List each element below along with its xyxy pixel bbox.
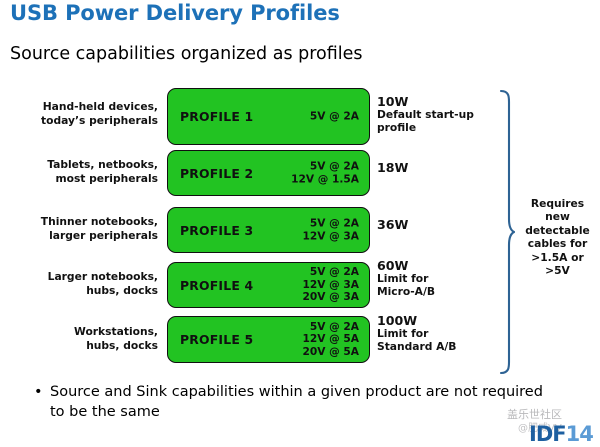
page-subtitle: Source capabilities organized as profile… <box>10 44 363 64</box>
profile-use-case: Tablets, netbooks, most peripherals <box>0 158 158 185</box>
voltage-line-3: 20V @ 5A <box>303 346 359 358</box>
profile-name: PROFILE 1 <box>168 109 253 124</box>
profile-name: PROFILE 3 <box>168 223 253 238</box>
power-watts: 36W <box>377 218 495 231</box>
use-case-line-1: Tablets, netbooks, <box>47 158 158 171</box>
profile-name: PROFILE 5 <box>168 332 253 347</box>
use-case-line-2: most peripherals <box>55 172 158 185</box>
power-watts: 18W <box>377 161 495 174</box>
power-watts: 10W <box>377 95 495 108</box>
brace-note: Requires new detectable cables for >1.5A… <box>515 197 600 277</box>
voltage-line-2: 12V @ 1.5A <box>291 173 359 185</box>
profile-power: 100W Limit for Standard A/B <box>377 314 495 354</box>
idf-logo-year: 14 <box>566 422 593 446</box>
use-case-line-1: Workstations, <box>74 325 158 338</box>
bullet-item: • Source and Sink capabilities within a … <box>34 382 554 422</box>
voltage-line-1: 5V @ 2A <box>310 110 359 122</box>
profile-power: 18W <box>377 161 495 174</box>
profile-voltages: 5V @ 2A <box>310 110 359 123</box>
profile-voltages: 5V @ 2A 12V @ 1.5A <box>291 160 359 185</box>
power-note-line-2: Micro-A/B <box>377 285 435 298</box>
profile-use-case: Larger notebooks, hubs, docks <box>0 270 158 297</box>
profile-voltages: 5V @ 2A 12V @ 3A 20V @ 3A <box>303 266 359 304</box>
profile-name: PROFILE 4 <box>168 278 253 293</box>
power-note-line-2: profile <box>377 121 416 134</box>
voltage-line-1: 5V @ 2A <box>310 160 359 172</box>
voltage-line-1: 5V @ 2A <box>310 321 359 333</box>
profile-name: PROFILE 2 <box>168 166 253 181</box>
profile-box[interactable]: PROFILE 4 5V @ 2A 12V @ 3A 20V @ 3A <box>167 262 370 308</box>
profile-voltages: 5V @ 2A 12V @ 5A 20V @ 5A <box>303 321 359 359</box>
power-watts: 60W <box>377 259 495 272</box>
power-watts: 100W <box>377 314 495 327</box>
power-note-line-1: Default start-up <box>377 108 474 121</box>
voltage-line-2: 12V @ 3A <box>303 279 359 291</box>
profile-use-case: Thinner notebooks, larger peripherals <box>0 215 158 242</box>
brace-note-line-4: cables for <box>528 237 587 250</box>
power-note-line-1: Limit for <box>377 272 428 285</box>
idf-logo: IDF14 <box>529 424 593 445</box>
profile-box[interactable]: PROFILE 1 5V @ 2A <box>167 88 370 145</box>
profile-box[interactable]: PROFILE 2 5V @ 2A 12V @ 1.5A <box>167 150 370 196</box>
curly-brace-icon <box>489 88 515 376</box>
voltage-line-1: 5V @ 2A <box>310 266 359 278</box>
profile-power: 60W Limit for Micro-A/B <box>377 259 495 299</box>
profile-power: 10W Default start-up profile <box>377 95 495 135</box>
brace-note-line-3: detectable <box>525 224 589 237</box>
brace-note-line-1: Requires <box>531 197 584 210</box>
voltage-line-2: 12V @ 5A <box>303 333 359 345</box>
profile-power: 36W <box>377 218 495 231</box>
bullet-marker: • <box>34 382 43 402</box>
voltage-line-2: 12V @ 3A <box>303 230 359 242</box>
brace-note-line-6: >5V <box>545 264 570 277</box>
profile-box[interactable]: PROFILE 5 5V @ 2A 12V @ 5A 20V @ 5A <box>167 316 370 363</box>
profile-use-case: Workstations, hubs, docks <box>0 325 158 352</box>
slide-canvas: USB Power Delivery Profiles Source capab… <box>0 0 600 447</box>
use-case-line-1: Hand-held devices, <box>43 100 158 113</box>
idf-logo-letters: IDF <box>529 422 566 446</box>
bullet-text: Source and Sink capabilities within a gi… <box>50 382 554 422</box>
page-title: USB Power Delivery Profiles <box>10 1 340 25</box>
use-case-line-1: Thinner notebooks, <box>41 215 158 228</box>
profile-voltages: 5V @ 2A 12V @ 3A <box>303 217 359 242</box>
voltage-line-3: 20V @ 3A <box>303 291 359 303</box>
use-case-line-1: Larger notebooks, <box>48 270 158 283</box>
use-case-line-2: larger peripherals <box>49 229 158 242</box>
voltage-line-1: 5V @ 2A <box>310 217 359 229</box>
brace-note-line-2: new <box>545 210 570 223</box>
power-note-line-2: Standard A/B <box>377 340 456 353</box>
profile-use-case: Hand-held devices, today’s peripherals <box>0 100 158 127</box>
brace-note-line-5: >1.5A or <box>531 251 584 264</box>
profile-box[interactable]: PROFILE 3 5V @ 2A 12V @ 3A <box>167 207 370 253</box>
use-case-line-2: hubs, docks <box>86 339 158 352</box>
use-case-line-2: today’s peripherals <box>41 114 158 127</box>
power-note-line-1: Limit for <box>377 327 428 340</box>
use-case-line-2: hubs, docks <box>86 284 158 297</box>
